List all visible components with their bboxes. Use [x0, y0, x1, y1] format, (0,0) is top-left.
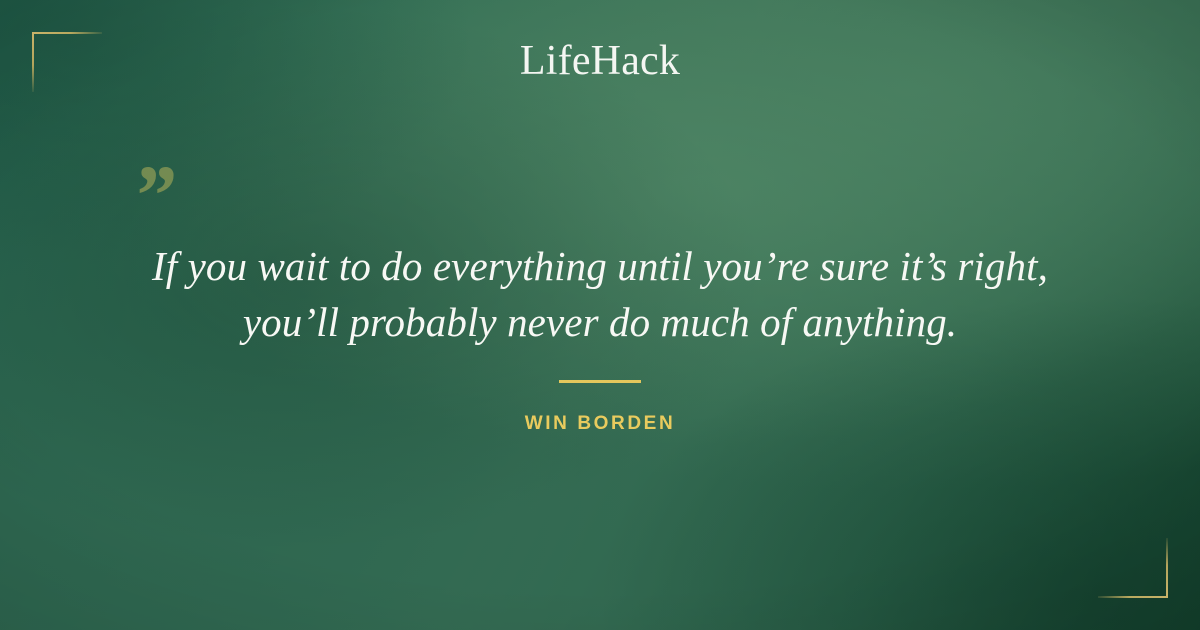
quote-author: WIN BORDEN — [0, 412, 1200, 436]
bracket-horizontal-arm — [32, 32, 102, 34]
quote-line-1: If you wait to do everything until you’r… — [90, 238, 1110, 294]
quote-text: If you wait to do everything until you’r… — [90, 238, 1110, 350]
lifehack-logo: LifeHack — [0, 38, 1200, 84]
quote-line-2: you’ll probably never do much of anythin… — [90, 294, 1110, 350]
quotation-mark-icon: ” — [132, 152, 175, 238]
bracket-horizontal-arm — [1098, 596, 1168, 598]
quote-card: LifeHack ” If you wait to do everything … — [0, 0, 1200, 630]
attribution-divider — [559, 380, 641, 383]
bracket-vertical-arm — [1166, 538, 1168, 598]
corner-bracket-bottom-right-icon — [1098, 538, 1168, 598]
